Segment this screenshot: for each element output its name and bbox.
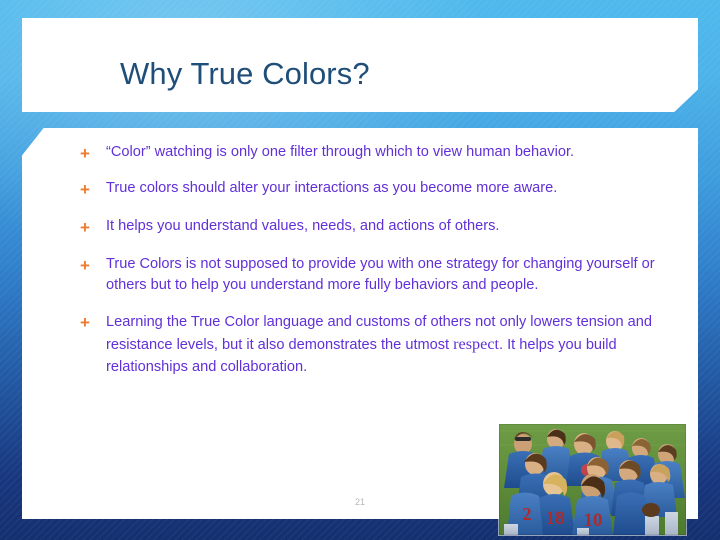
svg-text:10: 10 — [584, 510, 603, 531]
list-item: + “Color” watching is only one filter th… — [80, 142, 670, 164]
page-title: Why True Colors? — [120, 56, 370, 92]
plus-icon: + — [80, 178, 106, 200]
plus-icon: + — [80, 216, 106, 238]
list-item: + True colors should alter your interact… — [80, 178, 670, 200]
bullet-list: + “Color” watching is only one filter th… — [80, 142, 670, 390]
softball-team-huddle-photo: 18 10 2 — [499, 424, 686, 535]
slide-canvas: Why True Colors? + “Color” watching is o… — [0, 0, 720, 540]
list-item-text: Learning the True Color language and cus… — [106, 311, 670, 378]
list-item-text: True Colors is not supposed to provide y… — [106, 254, 670, 295]
photo-graphic: 18 10 2 — [499, 424, 686, 535]
list-item-text: “Color” watching is only one filter thro… — [106, 142, 670, 163]
svg-text:2: 2 — [523, 504, 532, 524]
plus-icon: + — [80, 142, 106, 164]
plus-icon: + — [80, 311, 106, 333]
plus-icon: + — [80, 254, 106, 276]
list-item-text: It helps you understand values, needs, a… — [106, 216, 670, 237]
title-plate: Why True Colors? — [22, 18, 698, 112]
list-item: + True Colors is not supposed to provide… — [80, 254, 670, 295]
emphasis-word: respect — [453, 335, 499, 353]
svg-text:18: 18 — [546, 508, 565, 529]
list-item: + It helps you understand values, needs,… — [80, 216, 670, 238]
list-item-text: True colors should alter your interactio… — [106, 178, 670, 199]
list-item: + Learning the True Color language and c… — [80, 311, 670, 378]
